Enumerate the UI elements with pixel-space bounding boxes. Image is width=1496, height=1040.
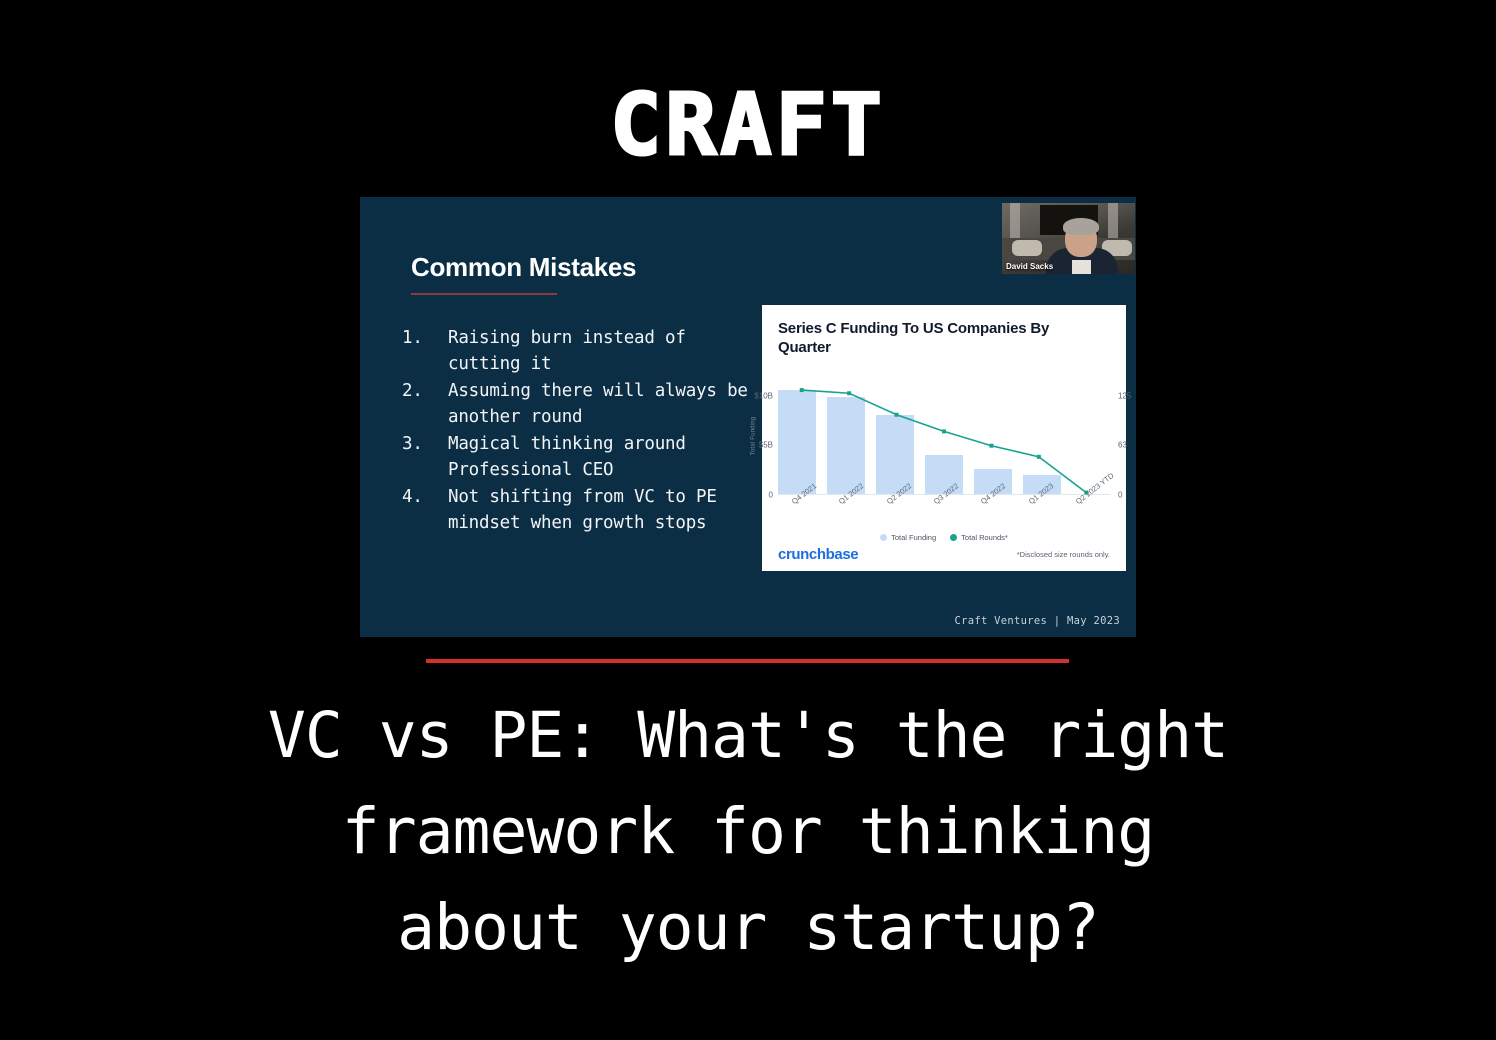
line-marker-2 [895,413,899,417]
slide-title: Common Mistakes [411,252,636,283]
list-item-number: 4. [402,484,423,510]
legend-swatch-icon [880,534,887,541]
red-divider [426,659,1069,663]
slide-title-rule [411,293,557,295]
list-item-label: Assuming there will always be another ro… [448,381,748,427]
webcam-person-shirt [1072,260,1091,274]
webcam-person-hair [1063,218,1099,235]
y-tick-label: 0 [769,491,773,500]
line-series-total-rounds [778,371,1110,495]
list-item-label: Not shifting from VC to PE mindset when … [448,487,717,533]
list-item: 4. Not shifting from VC to PE mindset wh… [400,484,755,536]
y2-tick-label: 125 [1118,391,1131,400]
legend-item: Total Funding [880,533,936,542]
list-item-number: 2. [402,378,423,404]
list-item-label: Raising burn instead of cutting it [448,328,686,374]
list-item-number: 3. [402,431,423,457]
chart-footnote: *Disclosed size rounds only. [1017,550,1110,559]
common-mistakes-list: 1. Raising burn instead of cutting it 2.… [400,325,755,537]
legend-item: Total Rounds* [950,533,1008,542]
caption: VC vs PE: What's the right framework for… [98,688,1398,976]
list-item-label: Magical thinking around Professional CEO [448,434,686,480]
webcam-participant-name: David Sacks [1006,262,1053,271]
chart-title: Series C Funding To US Companies By Quar… [778,319,1093,357]
y-tick-label: $5B [759,441,773,450]
chart-legend: Total FundingTotal Rounds* [762,533,1126,542]
caption-line-2: framework for thinking [98,784,1398,880]
chart-card: Series C Funding To US Companies By Quar… [762,305,1126,571]
caption-line-1: VC vs PE: What's the right [98,688,1398,784]
x-axis-ticks: Q4 2021Q1 2022Q2 2022Q3 2022Q4 2022Q1 20… [778,499,1110,537]
chart-plot-area: Total Funding Total Rounds* $10B$5B0 125… [778,371,1110,495]
y2-tick-label: 0 [1118,491,1122,500]
list-item: 1. Raising burn instead of cutting it [400,325,755,377]
line-marker-4 [989,444,993,448]
line-marker-0 [800,388,804,392]
crunchbase-logo: crunchbase [778,546,858,563]
line-marker-5 [1037,455,1041,459]
y2-tick-label: 63 [1118,440,1127,449]
list-item: 2. Assuming there will always be another… [400,378,755,430]
presentation-slide: Common Mistakes 1. Raising burn instead … [360,197,1136,637]
caption-line-3: about your startup? [98,880,1398,976]
y-axis-label: Total Funding [750,417,756,456]
slide-footer: Craft Ventures | May 2023 [954,615,1120,627]
webcam-tile[interactable]: David Sacks [1001,202,1136,275]
webcam-cushion-left [1012,240,1042,256]
legend-label: Total Rounds* [961,533,1008,542]
line-marker-3 [942,429,946,433]
legend-swatch-icon [950,534,957,541]
list-item-number: 1. [402,325,423,351]
y-tick-label: $10B [754,391,773,400]
legend-label: Total Funding [891,533,936,542]
line-marker-1 [847,391,851,395]
craft-logo: CRAFT [0,83,1496,168]
list-item: 3. Magical thinking around Professional … [400,431,755,483]
